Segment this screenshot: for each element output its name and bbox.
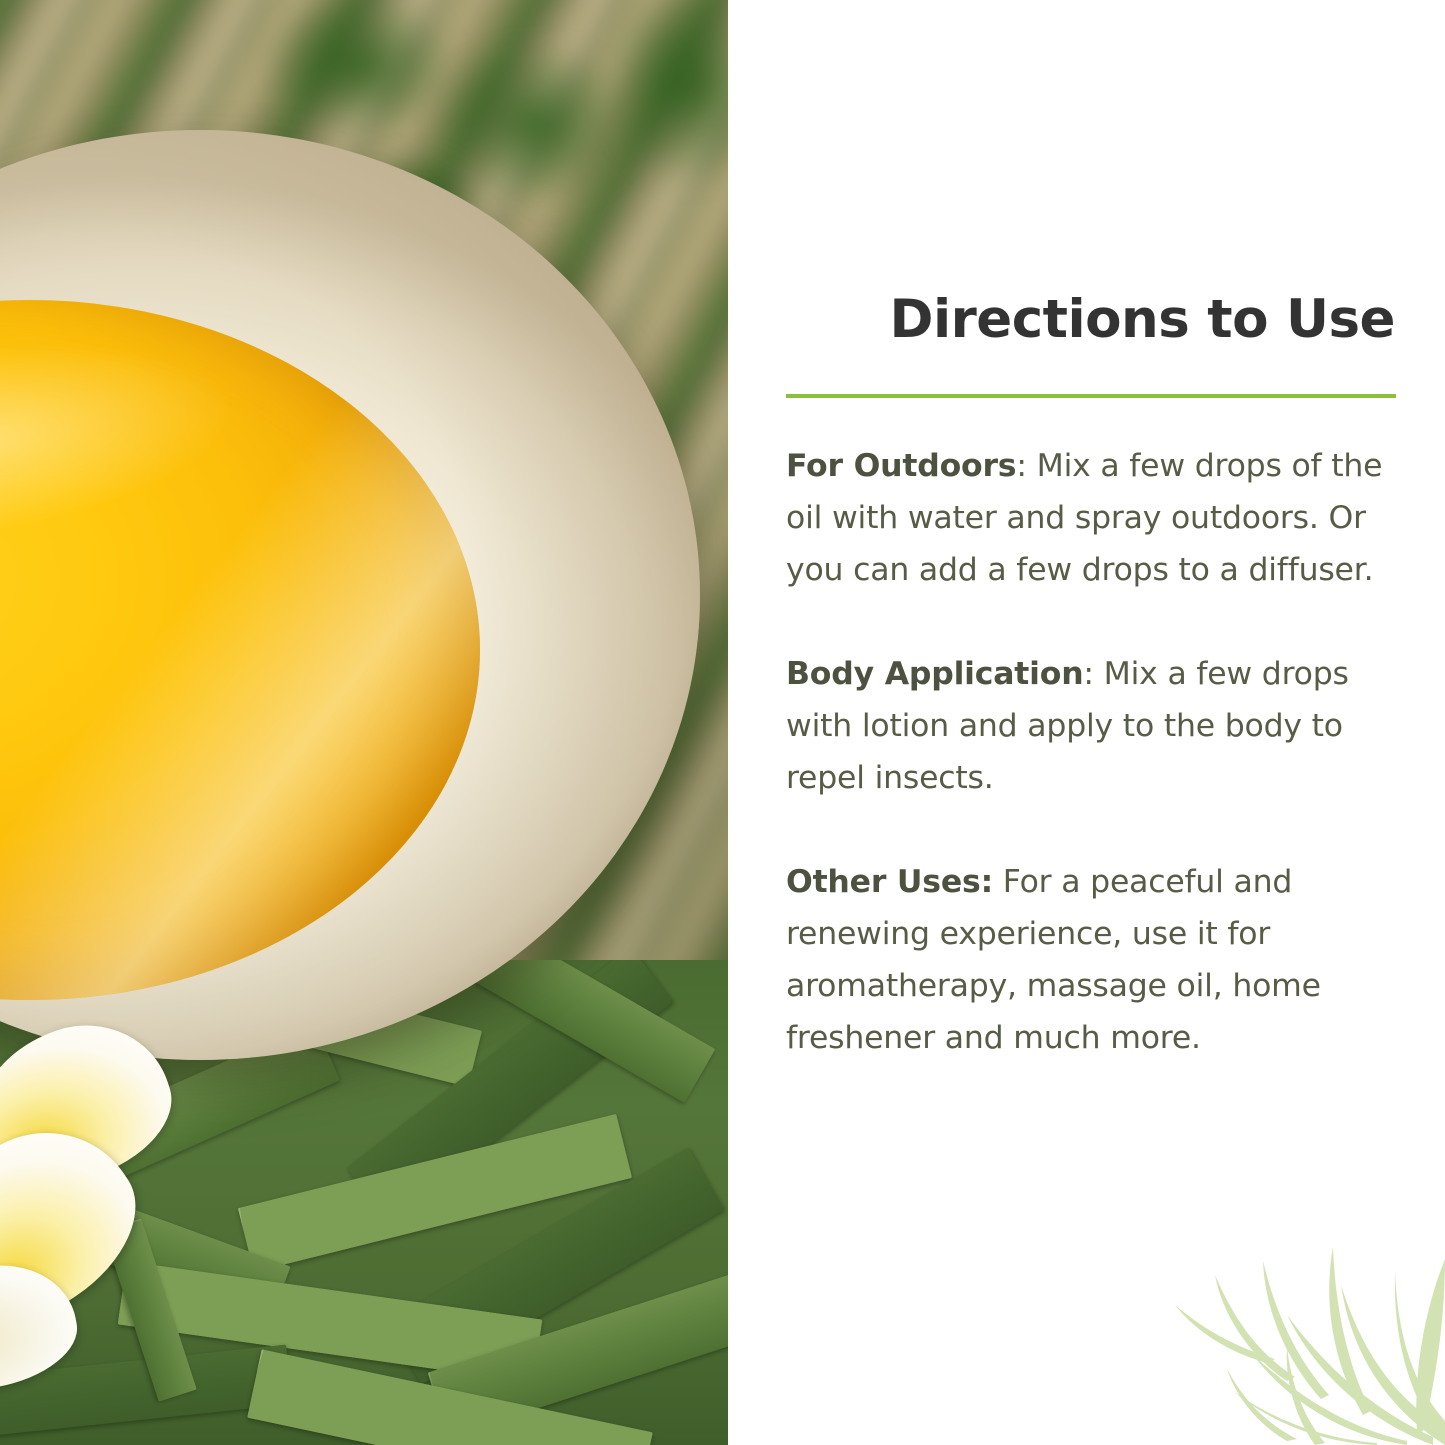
page-title: Directions to Use xyxy=(788,292,1395,347)
direction-separator: : xyxy=(1016,448,1036,484)
direction-section-other-uses: Other Uses: For a peaceful and renewing … xyxy=(786,856,1404,1064)
directions-panel: Directions to Use For Outdoors: Mix a fe… xyxy=(728,0,1445,1445)
direction-separator: : xyxy=(1083,656,1103,692)
product-infographic-page: Directions to Use For Outdoors: Mix a fe… xyxy=(0,0,1445,1445)
directions-body: For Outdoors: Mix a few drops of the oil… xyxy=(786,440,1404,1064)
direction-lead-label: Other Uses: xyxy=(786,864,993,900)
frangipani-flower xyxy=(0,1030,232,1360)
lemongrass-plant-watermark-icon xyxy=(1145,1185,1445,1445)
foliage-blur-3 xyxy=(600,0,728,190)
direction-lead-label: Body Application xyxy=(786,656,1083,692)
direction-separator xyxy=(993,864,1003,900)
title-divider-rule xyxy=(786,394,1396,398)
direction-section-outdoors: For Outdoors: Mix a few drops of the oil… xyxy=(786,440,1404,596)
direction-lead-label: For Outdoors xyxy=(786,448,1016,484)
product-photo xyxy=(0,0,728,1445)
direction-section-body-application: Body Application: Mix a few drops with l… xyxy=(786,648,1404,804)
